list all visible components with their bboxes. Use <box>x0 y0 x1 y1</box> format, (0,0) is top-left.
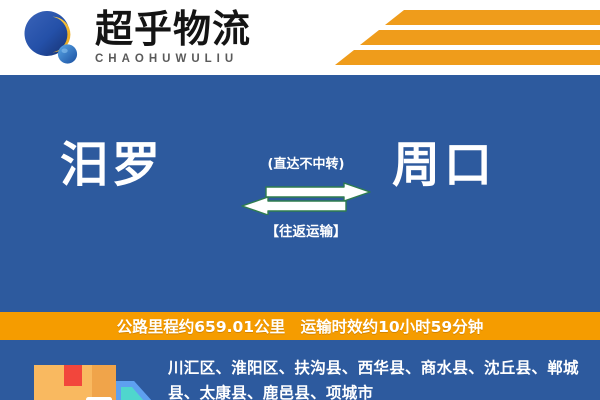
main-panel: 汨罗 (直达不中转) 【往返运输】 周口 <box>0 75 600 400</box>
route-arrow-block: (直达不中转) 【往返运输】 <box>238 115 374 215</box>
coverage-district-list: 川汇区、淮阳区、扶沟县、西华县、商水县、沈丘县、郸城县、太康县、鹿邑县、项城市 <box>168 356 582 400</box>
circle-crescent-logo-icon <box>22 9 84 67</box>
stripe-middle <box>360 30 600 45</box>
stripe-top <box>385 10 600 25</box>
stripe-bottom <box>335 50 600 65</box>
banner-header: 超乎物流 CHAOHUWULIU <box>0 0 600 73</box>
brand-text: 超乎物流 CHAOHUWULIU <box>95 8 275 66</box>
delivery-truck-icon <box>28 357 160 400</box>
origin-city: 汨罗 <box>60 137 164 193</box>
route-note-roundtrip: 【往返运输】 <box>238 220 374 240</box>
brand-name-pinyin: CHAOHUWULIU <box>95 52 275 66</box>
route-note-direct: (直达不中转) <box>238 153 374 172</box>
logistics-route-banner: 超乎物流 CHAOHUWULIU 汨罗 (直达不中转) <box>0 0 600 400</box>
route-row: 汨罗 (直达不中转) 【往返运输】 周口 <box>0 115 600 215</box>
route-info-bar: 公路里程约659.01公里 运输时效约10小时59分钟 <box>0 312 600 340</box>
route-info-text: 公路里程约659.01公里 运输时效约10小时59分钟 <box>117 315 483 337</box>
decorative-stripes <box>330 0 600 73</box>
brand-name-cn: 超乎物流 <box>95 8 275 50</box>
destination-city: 周口 <box>392 137 496 193</box>
double-headed-arrow-icon <box>234 181 378 215</box>
